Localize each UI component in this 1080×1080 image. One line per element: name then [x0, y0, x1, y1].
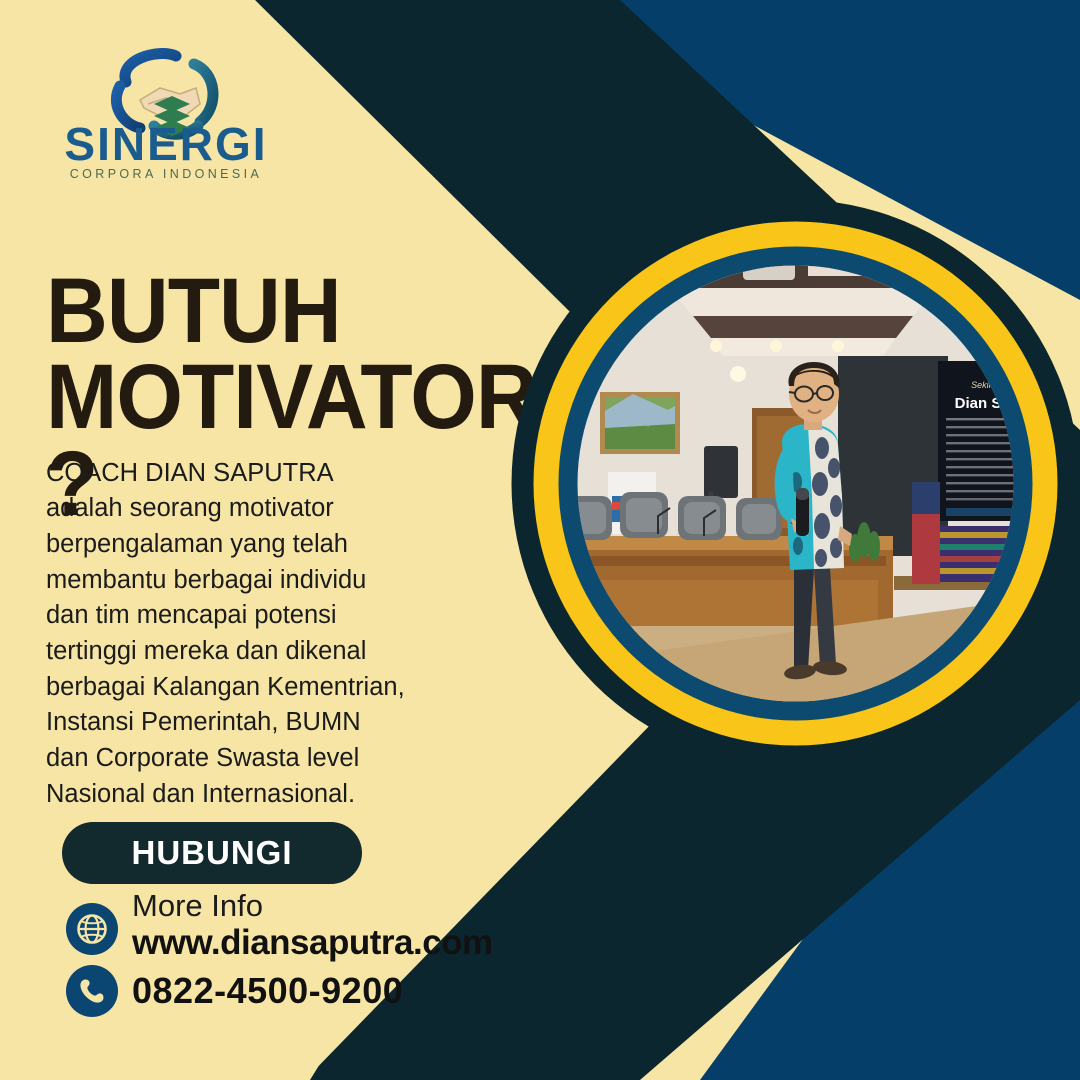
hubungi-button-label: HUBUNGI	[132, 834, 293, 872]
website-url[interactable]: www.diansaputra.com	[132, 923, 493, 963]
speaker-photo-frame: Sekilas Tentang Dian Saputra,	[508, 196, 1080, 771]
contact-block: More Info www.diansaputra.com 0822-4500-…	[66, 890, 586, 1019]
contact-row-phone[interactable]: 0822-4500-9200	[66, 965, 586, 1017]
description-paragraph: COACH DIAN SAPUTRA adalah seorang motiva…	[46, 456, 446, 813]
contact-row-website[interactable]: More Info www.diansaputra.com	[66, 890, 586, 963]
phone-icon	[66, 965, 118, 1017]
headline-line-1: BUTUH	[46, 268, 530, 354]
globe-icon	[66, 903, 118, 955]
logo-tagline: CORPORA INDONESIA	[70, 167, 263, 181]
logo-wordmark: SINERGI	[64, 118, 267, 170]
hubungi-button[interactable]: HUBUNGI	[62, 822, 362, 884]
more-info-label: More Info	[132, 890, 493, 923]
phone-number[interactable]: 0822-4500-9200	[132, 972, 403, 1010]
poster-canvas: SINERGI CORPORA INDONESIA BUTUH MOTIVATO…	[0, 0, 1080, 1080]
brand-logo: SINERGI CORPORA INDONESIA	[48, 42, 288, 182]
